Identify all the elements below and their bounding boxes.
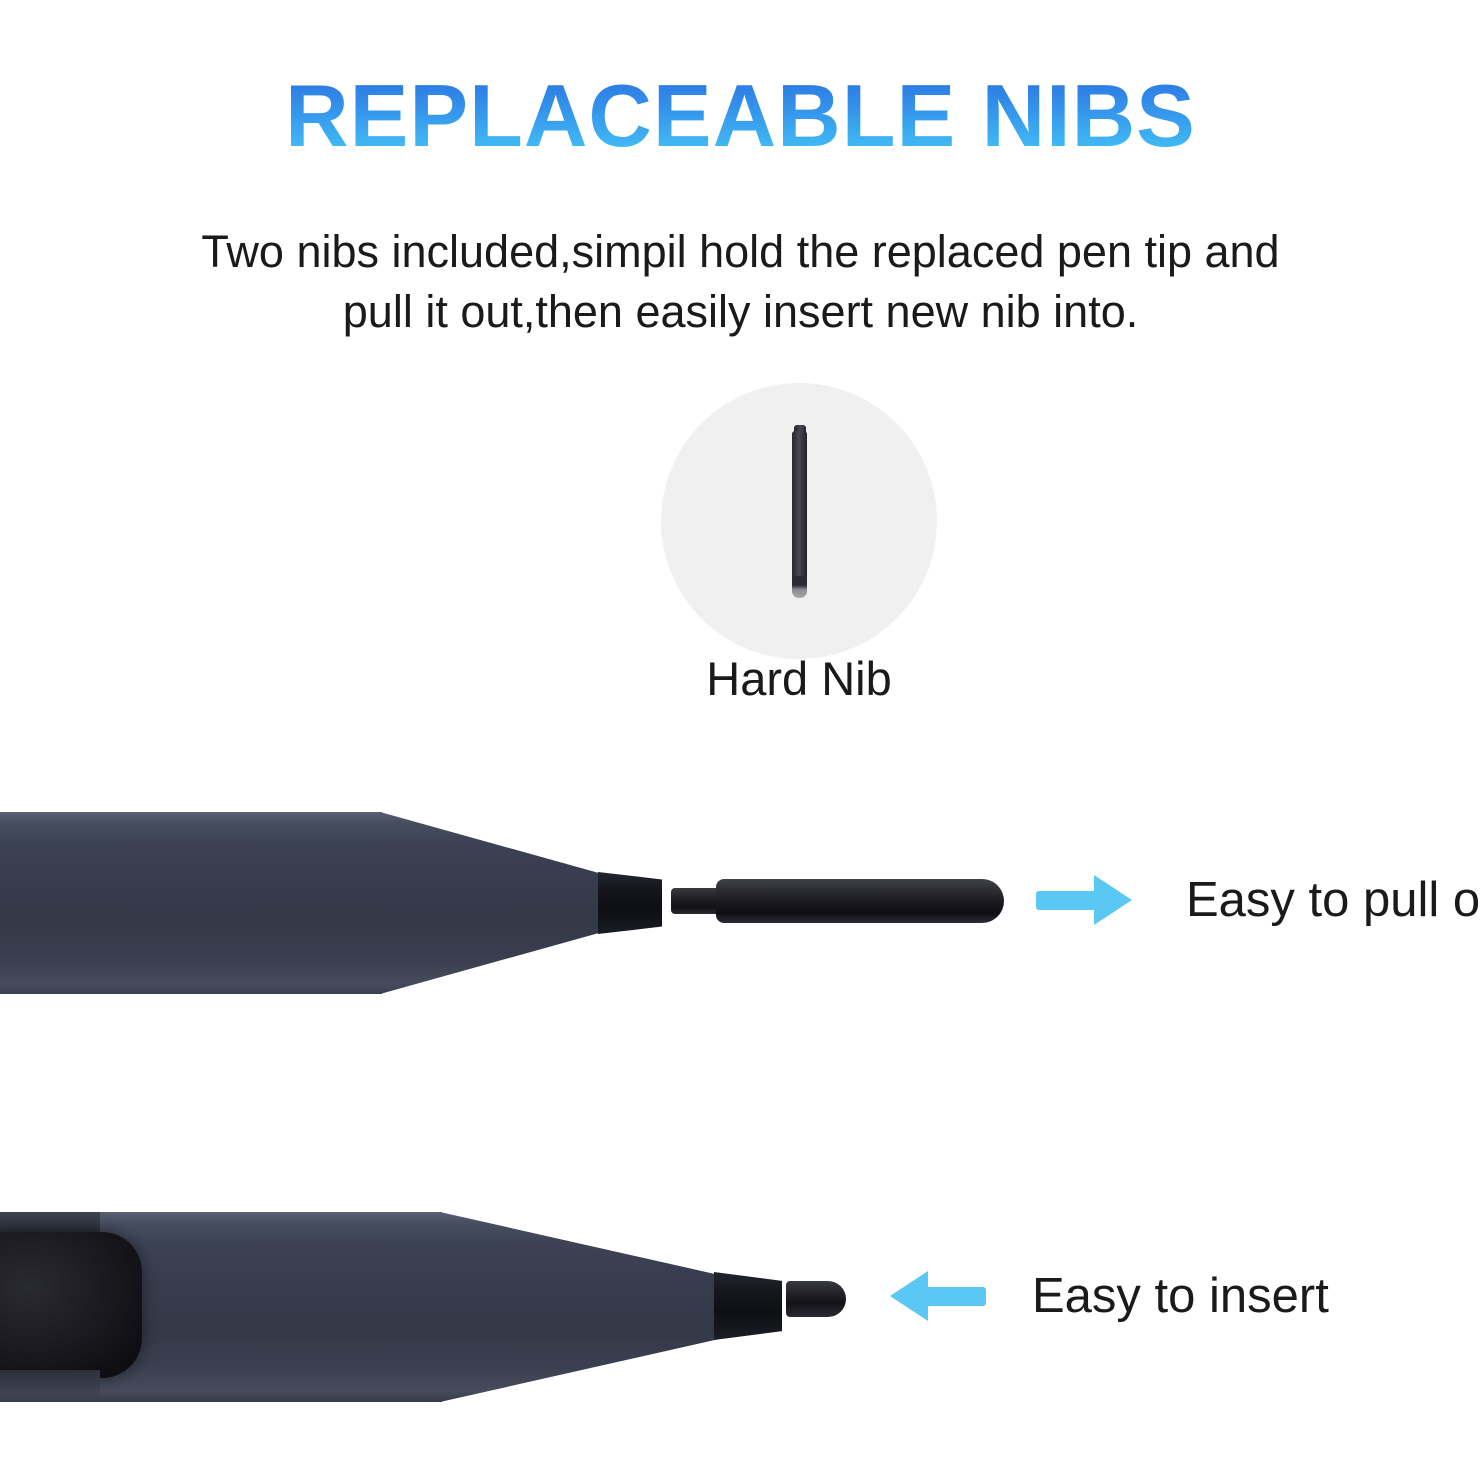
detached-nib-body [716,879,1004,923]
arrow-shaft [1036,891,1102,910]
pen-taper-cone [440,1212,718,1402]
pen-button-bottom-edge [0,1370,100,1402]
pen-side-button [0,1232,142,1378]
nib-body-icon [792,431,807,583]
arrow-head [890,1271,928,1321]
stylus-pen-top [0,800,710,1010]
hard-nib-swatch: Hard Nib [661,383,937,659]
pen-taper-cone [380,812,602,994]
nib-tip-icon [792,576,807,598]
arrow-left-icon [890,1269,986,1323]
arrow-shaft [920,1287,986,1306]
pen-nib-collar [714,1272,782,1340]
pen-barrel [0,812,382,994]
product-infographic: REPLACEABLE NIBS Two nibs included,simpi… [0,0,1481,1481]
page-title: REPLACEABLE NIBS [0,72,1481,160]
subtitle-description: Two nibs included,simpil hold the replac… [181,222,1301,343]
arrow-right-icon [1036,873,1132,927]
callout-pull-out: Easy to pull out [1036,872,1481,928]
arrow-head [1094,875,1132,925]
callout-insert: Easy to insert [890,1268,1329,1324]
callout-pull-out-label: Easy to pull out [1186,872,1481,928]
hard-nib-label: Hard Nib [571,651,1027,706]
pen-nib-collar [598,872,662,934]
inserted-nib-stub [786,1281,846,1317]
callout-insert-label: Easy to insert [1032,1268,1329,1324]
